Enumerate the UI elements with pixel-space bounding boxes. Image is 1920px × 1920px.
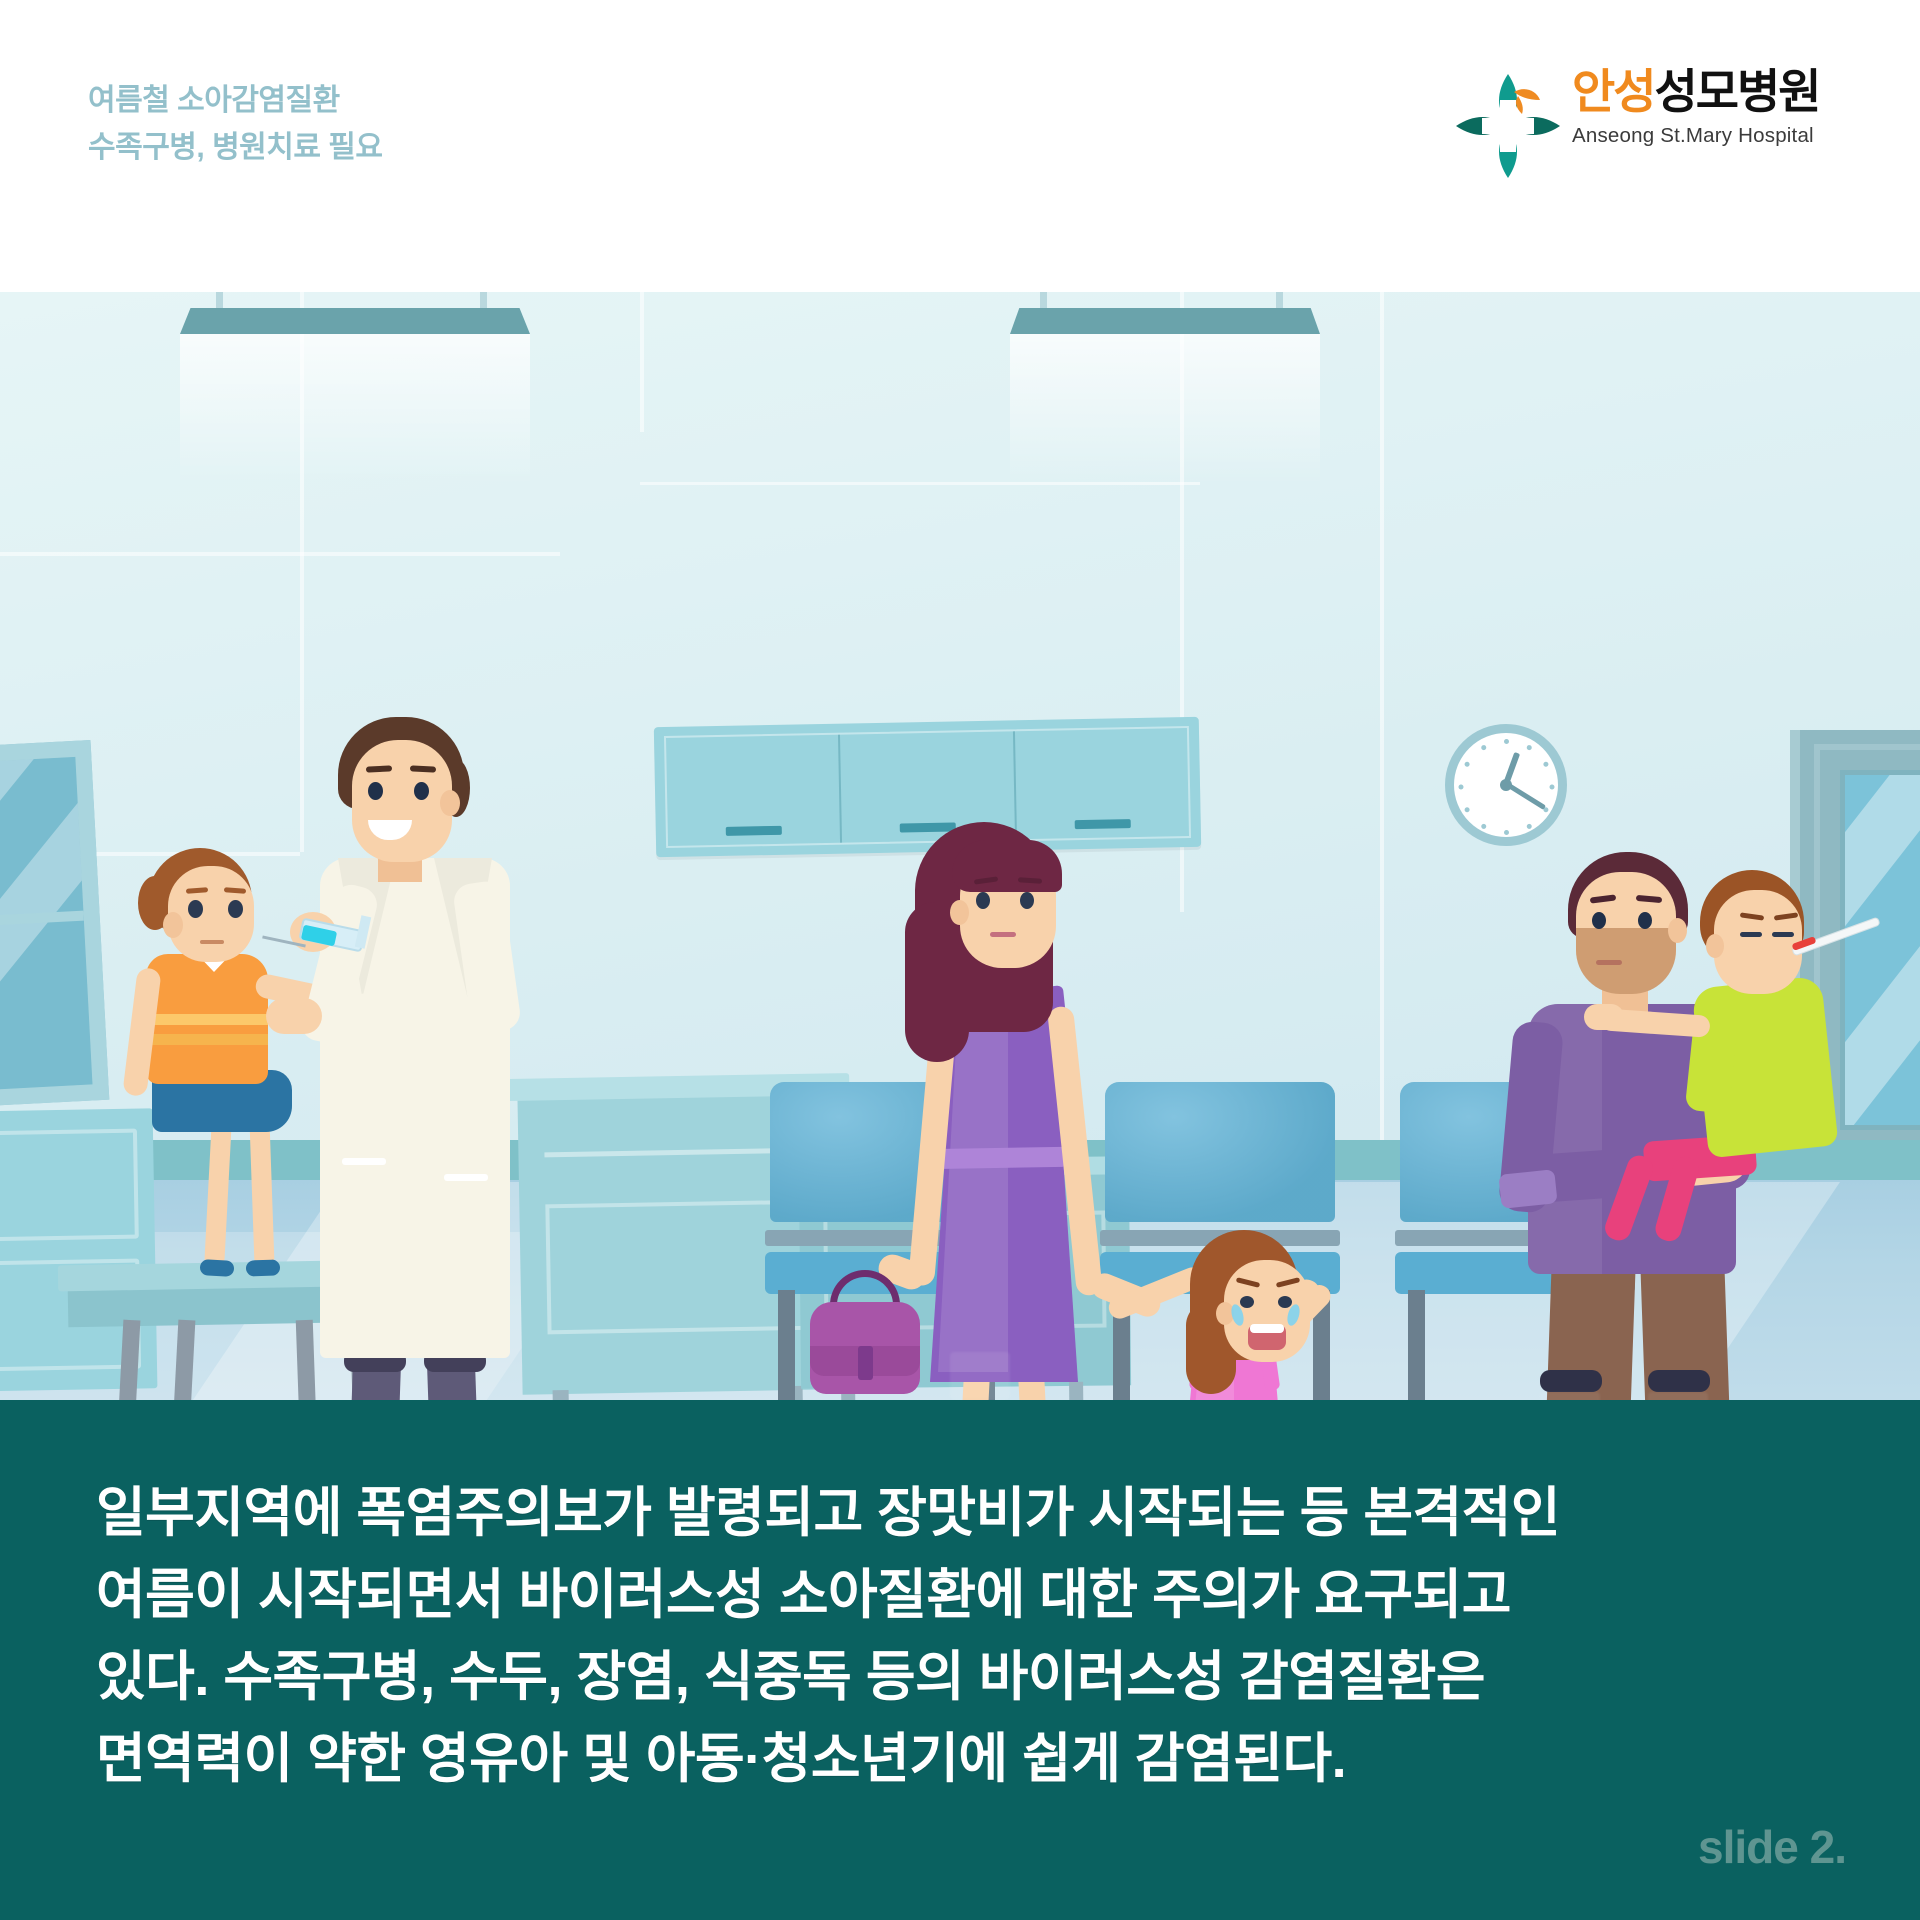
hospital-name-anseong: 안성 (1572, 65, 1654, 118)
slide-number-label: slide 2. (1698, 1820, 1846, 1874)
page-header: 여름철 소아감염질환 수족구병, 병원치료 필요 안성성모병원 Anseon (0, 0, 1920, 292)
floor-reflection (1540, 1392, 1600, 1400)
page-title-line2: 수족구병, 병원치료 필요 (88, 131, 383, 164)
body-copy-line2: 여름이 시작되면서 바이러스성 소아질환에 대한 주의가 요구되고 (96, 1565, 1511, 1625)
body-copy-line4: 면역력이 약한 영유아 및 아동·청소년기에 쉽게 감염된다. (96, 1729, 1346, 1789)
body-copy-line3: 있다. 수족구병, 수두, 장염, 식중독 등의 바이러스성 감염질환은 (96, 1647, 1485, 1707)
page-title: 여름철 소아감염질환 수족구병, 병원치료 필요 (88, 78, 383, 171)
floor-reflection (950, 1352, 1010, 1400)
floor-reflection (1648, 1392, 1708, 1400)
wall-seam (640, 292, 644, 432)
hospital-logo-mark-icon (1452, 70, 1564, 182)
hospital-name-korean: 안성성모병원 (1572, 68, 1882, 115)
wall-seam (1380, 292, 1384, 1142)
footer-caption-panel: 일부지역에 폭염주의보가 발령되고 장맛비가 시작되는 등 본격적인 여름이 시… (0, 1400, 1920, 1920)
wall-clock-icon (1445, 724, 1567, 846)
body-copy-line1: 일부지역에 폭염주의보가 발령되고 장맛비가 시작되는 등 본격적인 (96, 1483, 1560, 1543)
body-copy: 일부지역에 폭염주의보가 발령되고 장맛비가 시작되는 등 본격적인 여름이 시… (96, 1472, 1826, 1800)
hospital-logo-text: 안성성모병원 Anseong St.Mary Hospital (1572, 68, 1882, 180)
wall-seam (0, 552, 560, 556)
wall-cabinet (654, 717, 1201, 857)
page-title-line1: 여름철 소아감염질환 (88, 84, 340, 117)
hospital-name-english: Anseong St.Mary Hospital (1572, 124, 1882, 148)
hospital-name-stmary: 성모병원 (1654, 65, 1819, 118)
illustration-scene (0, 292, 1920, 1400)
hospital-logo[interactable]: 안성성모병원 Anseong St.Mary Hospital (1452, 68, 1882, 186)
wall-window (0, 740, 109, 1108)
